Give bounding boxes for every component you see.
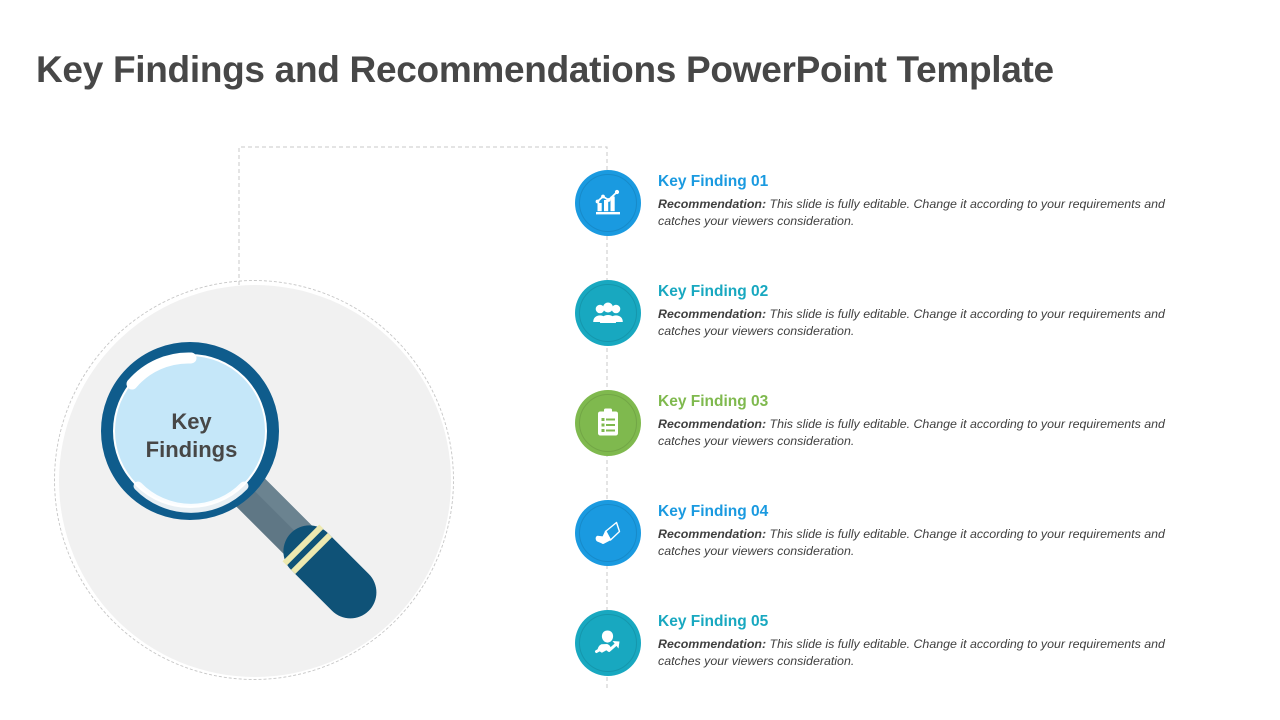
finding-title-01: Key Finding 01 (658, 173, 1186, 192)
finding-title-05: Key Finding 05 (658, 613, 1186, 632)
finding-lead-03: Recommendation: (658, 417, 766, 431)
magnifier-label: Key Findings (114, 408, 269, 463)
finding-item-04[interactable]: Key Finding 04 Recommendation: This slid… (575, 500, 1235, 610)
finding-body-02: Recommendation: This slide is fully edit… (658, 306, 1186, 341)
page-title: Key Findings and Recommendations PowerPo… (36, 49, 1054, 91)
bar-chart-growth-icon (591, 186, 625, 220)
finding-icon-badge-02[interactable] (575, 280, 641, 346)
finding-text-02: Key Finding 02 Recommendation: This slid… (658, 283, 1186, 341)
people-group-icon (591, 296, 625, 330)
finding-lead-05: Recommendation: (658, 637, 766, 651)
finding-body-01: Recommendation: This slide is fully edit… (658, 196, 1186, 231)
finding-icon-badge-03[interactable] (575, 390, 641, 456)
finding-body-04: Recommendation: This slide is fully edit… (658, 526, 1186, 561)
finding-item-05[interactable]: Key Finding 05 Recommendation: This slid… (575, 610, 1235, 676)
finding-lead-04: Recommendation: (658, 527, 766, 541)
finding-lead-01: Recommendation: (658, 197, 766, 211)
finding-item-01[interactable]: Key Finding 01 Recommendation: This slid… (575, 170, 1235, 280)
finding-item-03[interactable]: Key Finding 03 Recommendation: This slid… (575, 390, 1235, 500)
finding-text-01: Key Finding 01 Recommendation: This slid… (658, 173, 1186, 231)
finding-body-03: Recommendation: This slide is fully edit… (658, 416, 1186, 451)
finding-title-04: Key Finding 04 (658, 503, 1186, 522)
megaphone-icon (591, 516, 625, 550)
finding-icon-badge-01[interactable] (575, 170, 641, 236)
magnifier-label-line2: Findings (114, 436, 269, 464)
finding-icon-badge-05[interactable] (575, 610, 641, 676)
finding-title-02: Key Finding 02 (658, 283, 1186, 302)
finding-text-03: Key Finding 03 Recommendation: This slid… (658, 393, 1186, 451)
finding-item-02[interactable]: Key Finding 02 Recommendation: This slid… (575, 280, 1235, 390)
magnifier-illustration: Key Findings (54, 280, 464, 680)
magnifying-glass-icon (54, 280, 464, 680)
finding-title-03: Key Finding 03 (658, 393, 1186, 412)
finding-text-05: Key Finding 05 Recommendation: This slid… (658, 613, 1186, 671)
findings-list: Key Finding 01 Recommendation: This slid… (575, 170, 1235, 676)
finding-lead-02: Recommendation: (658, 307, 766, 321)
magnifier-label-line1: Key (114, 408, 269, 436)
finding-icon-badge-04[interactable] (575, 500, 641, 566)
finding-text-04: Key Finding 04 Recommendation: This slid… (658, 503, 1186, 561)
finding-body-05: Recommendation: This slide is fully edit… (658, 636, 1186, 671)
person-growth-arrow-icon (591, 626, 625, 660)
clipboard-checklist-icon (591, 406, 625, 440)
